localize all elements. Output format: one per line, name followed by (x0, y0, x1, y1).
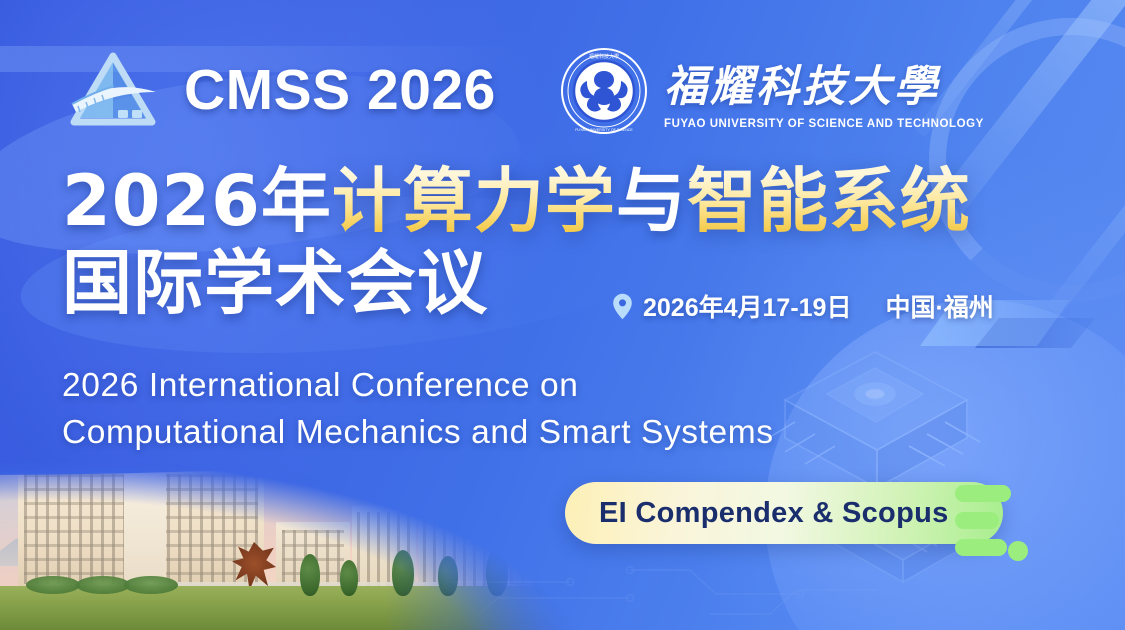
indexing-badge-label: EI Compendex & Scopus (599, 497, 949, 530)
conference-acronym: CMSS 2026 (184, 57, 496, 123)
large-glow-circle (765, 300, 1125, 630)
conference-banner: CMSS 2026 福耀科技大學 FUYAO UNIVERSITY OF SCI… (0, 0, 1125, 630)
indexing-badge: EI Compendex & Scopus (565, 482, 1003, 544)
event-meta: 2026年4月17-19日 中国·福州 (612, 288, 994, 324)
event-date: 2026年4月17-19日 (643, 288, 851, 324)
svg-text:FUYAO UNIVERSITY OF SCIENCE: FUYAO UNIVERSITY OF SCIENCE (575, 128, 633, 132)
cmss-triangle-bridge-logo-icon (64, 48, 162, 132)
subtitle-line-1: 2026 International Conference on (62, 362, 774, 409)
location-pin-icon (612, 293, 633, 320)
title-conjunction: 与 (616, 160, 687, 242)
title-topic-1: 计算力学 (332, 160, 616, 242)
title-topic-2: 智能系统 (687, 160, 971, 242)
event-city: 中国·福州 (885, 288, 993, 324)
fuyao-university-seal-icon: 福耀科技大學 FUYAO UNIVERSITY OF SCIENCE (560, 47, 648, 135)
green-e-mark-icon (955, 481, 1030, 567)
university-name-cn: 福耀科技大學 (664, 52, 984, 114)
diagonal-stripe-3 (1046, 164, 1125, 316)
conference-subtitle-en: 2026 International Conference on Computa… (62, 362, 774, 456)
university-logo: 福耀科技大學 FUYAO UNIVERSITY OF SCIENCE 福耀科技大… (560, 47, 984, 135)
svg-text:福耀科技大學: 福耀科技大學 (589, 53, 619, 60)
university-name-en: FUYAO UNIVERSITY OF SCIENCE AND TECHNOLO… (664, 118, 984, 130)
conference-header: CMSS 2026 (64, 48, 496, 132)
main-title-line-1: 2026年计算力学与智能系统 (62, 160, 971, 242)
subtitle-line-2: Computational Mechanics and Smart System… (62, 409, 774, 456)
title-year: 2026年 (62, 160, 332, 242)
